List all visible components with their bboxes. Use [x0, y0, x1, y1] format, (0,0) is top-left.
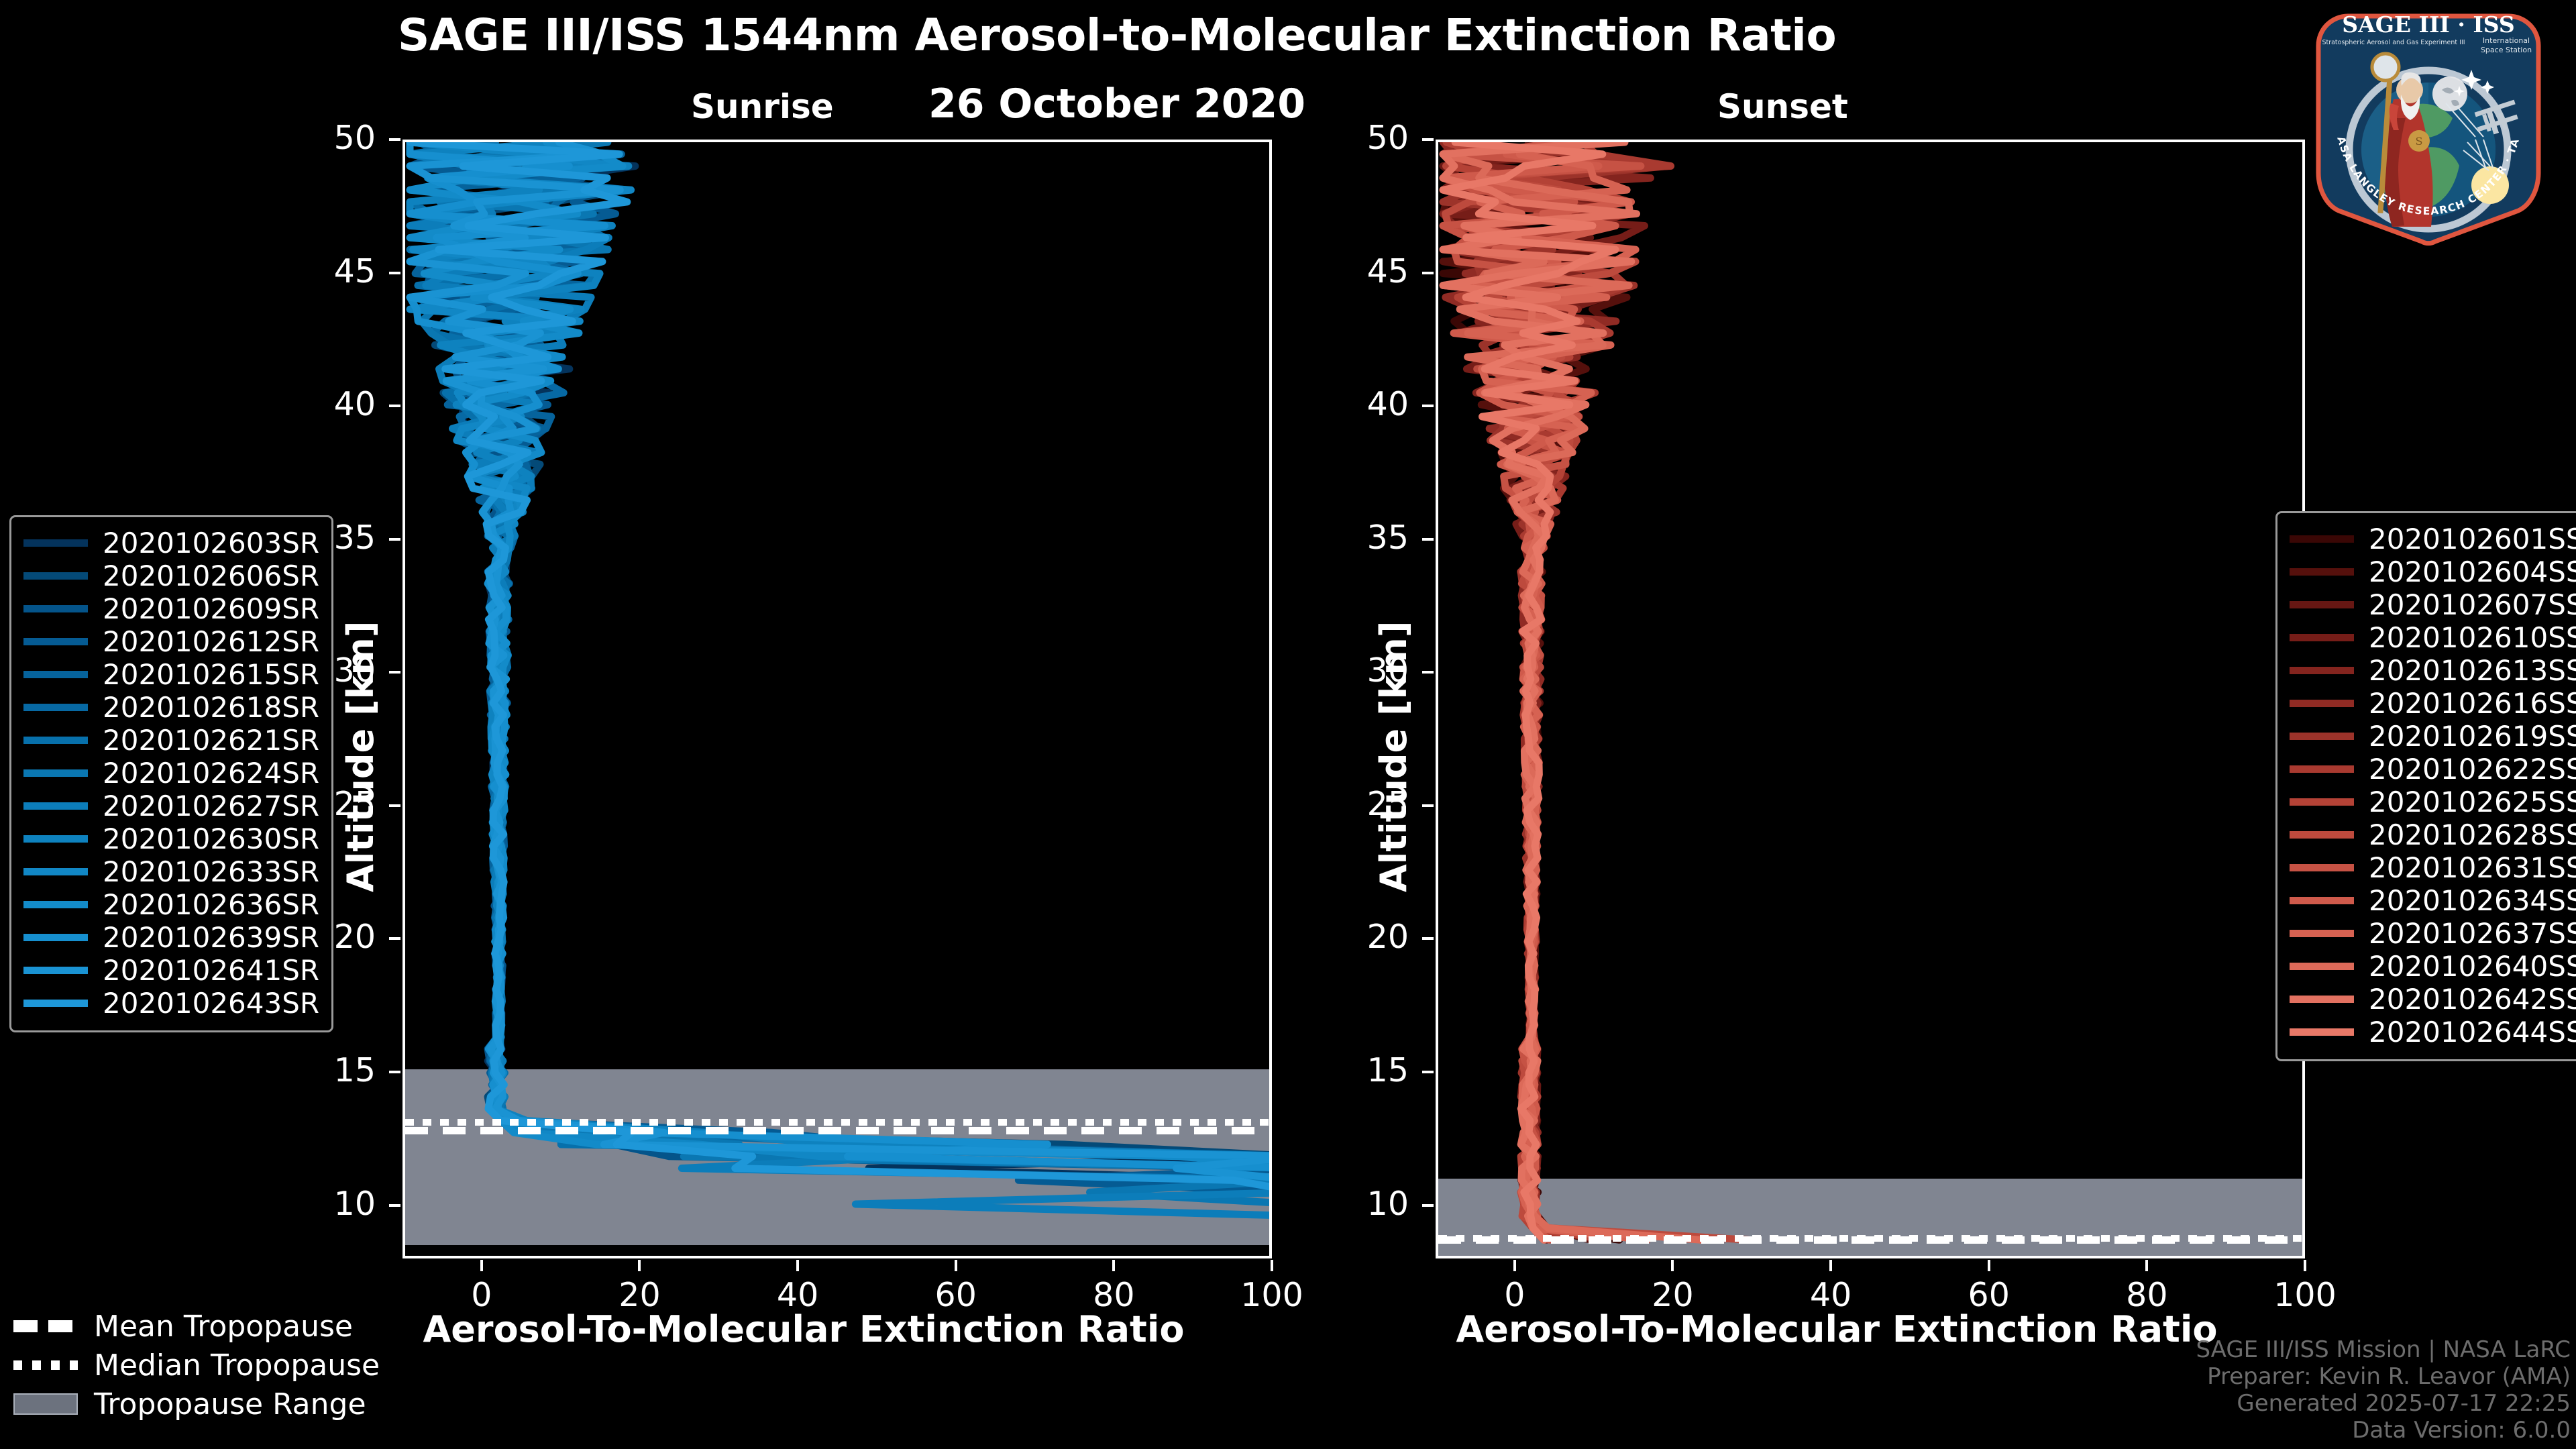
x-tick-mark — [955, 1260, 957, 1271]
y-tick-mark — [1422, 272, 1434, 274]
legend-item-label: 2020102630SR — [103, 822, 319, 855]
legend-color-swatch — [2290, 765, 2354, 773]
legend-item[interactable]: 2020102621SR — [23, 724, 319, 757]
page-title: SAGE III/ISS 1544nm Aerosol-to-Molecular… — [0, 9, 2234, 61]
legend-color-swatch — [23, 967, 88, 974]
tropopause-legend-item: Median Tropopause — [13, 1346, 380, 1385]
legend-item[interactable]: 2020102633SR — [23, 855, 319, 888]
y-tick-label: 10 — [1308, 1185, 1409, 1223]
y-tick-label: 40 — [1308, 385, 1409, 423]
legend-item[interactable]: 2020102619SS — [2290, 720, 2576, 753]
legend-color-swatch — [2290, 897, 2354, 904]
x-tick-mark — [2304, 1260, 2306, 1271]
legend-color-swatch — [23, 638, 88, 645]
sunset-y-axis-title: Altitude [km] — [1373, 621, 1415, 893]
legend-item-label: 2020102609SR — [103, 592, 319, 625]
x-tick-mark — [1988, 1260, 1990, 1271]
legend-item[interactable]: 2020102603SR — [23, 527, 319, 559]
legend-item[interactable]: 2020102636SR — [23, 888, 319, 921]
y-tick-mark — [1422, 405, 1434, 407]
x-tick-mark — [1671, 1260, 1674, 1271]
legend-item[interactable]: 2020102643SR — [23, 987, 319, 1020]
legend-item[interactable]: 2020102612SR — [23, 625, 319, 658]
y-tick-mark — [389, 405, 400, 407]
y-tick-mark — [1422, 804, 1434, 807]
tropopause-legend-swatch — [13, 1360, 78, 1370]
logo-main-text: SAGE III · ISS — [2342, 11, 2514, 38]
legend-color-swatch — [23, 769, 88, 777]
legend-color-swatch — [23, 1000, 88, 1007]
credit-generated: Generated 2025-07-17 22:25 — [2196, 1390, 2571, 1417]
legend-item[interactable]: 2020102637SS — [2290, 917, 2576, 950]
tropopause-legend-item: Mean Tropopause — [13, 1307, 380, 1346]
y-tick-mark — [1422, 1071, 1434, 1073]
legend-color-swatch — [2290, 798, 2354, 806]
legend-item[interactable]: 2020102630SR — [23, 822, 319, 855]
legend-item-label: 2020102615SR — [103, 658, 319, 691]
legend-color-swatch — [23, 934, 88, 941]
legend-item[interactable]: 2020102610SS — [2290, 621, 2576, 654]
panel-label-sunset: Sunset — [1717, 87, 1848, 126]
sunset-x-axis-title: Aerosol-To-Molecular Extinction Ratio — [1334, 1308, 2340, 1350]
y-tick-label: 10 — [275, 1185, 376, 1223]
sunrise-plot-canvas — [405, 142, 1269, 1256]
mean-tropopause-line — [405, 1127, 1269, 1134]
y-tick-mark — [389, 538, 400, 541]
median-tropopause-line — [405, 1119, 1269, 1126]
legend-item[interactable]: 2020102628SS — [2290, 818, 2576, 851]
legend-item-label: 2020102624SR — [103, 757, 319, 790]
legend-item[interactable]: 2020102601SS — [2290, 523, 2576, 555]
legend-color-swatch — [2290, 963, 2354, 970]
y-tick-label: 40 — [275, 385, 376, 423]
y-tick-mark — [1422, 1204, 1434, 1207]
legend-item[interactable]: 2020102644SS — [2290, 1016, 2576, 1049]
svg-text:S: S — [2416, 135, 2423, 148]
logo-subtitle-left: Stratospheric Aerosol and Gas Experiment… — [2322, 39, 2465, 46]
legend-item-label: 2020102634SS — [2369, 884, 2576, 917]
legend-item-label: 2020102628SS — [2369, 818, 2576, 851]
legend-item[interactable]: 2020102627SR — [23, 790, 319, 822]
profile-line — [410, 142, 1269, 1240]
legend-item[interactable]: 2020102604SS — [2290, 555, 2576, 588]
legend-color-swatch — [2290, 930, 2354, 937]
tropopause-legend-swatch — [13, 1320, 78, 1332]
credit-preparer: Preparer: Kevin R. Leavor (AMA) — [2196, 1363, 2571, 1390]
y-tick-label: 50 — [275, 119, 376, 157]
legend-color-swatch — [2290, 667, 2354, 674]
y-tick-label: 45 — [275, 252, 376, 290]
y-tick-label: 15 — [275, 1051, 376, 1089]
legend-item[interactable]: 2020102613SS — [2290, 654, 2576, 687]
logo-subtitle-right-1: International — [2483, 36, 2530, 45]
legend-color-swatch — [23, 671, 88, 678]
sunrise-event-legend[interactable]: 2020102603SR2020102606SR2020102609SR2020… — [9, 515, 333, 1032]
legend-color-swatch — [23, 572, 88, 580]
sunset-plot-canvas — [1438, 142, 2302, 1256]
legend-item[interactable]: 2020102622SS — [2290, 753, 2576, 786]
y-tick-mark — [389, 138, 400, 141]
sunrise-x-axis-title: Aerosol-To-Molecular Extinction Ratio — [301, 1308, 1307, 1350]
tropopause-legend-label: Tropopause Range — [94, 1387, 366, 1421]
legend-item[interactable]: 2020102624SR — [23, 757, 319, 790]
tropopause-legend-swatch — [13, 1393, 78, 1415]
y-tick-mark — [1422, 538, 1434, 541]
legend-item[interactable]: 2020102634SS — [2290, 884, 2576, 917]
logo-subtitle-right-2: Space Station — [2481, 46, 2532, 54]
sunrise-y-axis-title: Altitude [km] — [339, 621, 382, 893]
legend-item-label: 2020102627SR — [103, 790, 319, 822]
sunset-profile-lines — [1438, 142, 2302, 1256]
legend-item[interactable]: 2020102640SS — [2290, 950, 2576, 983]
legend-item-label: 2020102637SS — [2369, 917, 2576, 950]
y-tick-mark — [389, 272, 400, 274]
sunrise-profile-lines — [405, 142, 1269, 1256]
y-tick-mark — [389, 671, 400, 674]
legend-color-swatch — [2290, 996, 2354, 1003]
legend-item-label: 2020102613SS — [2369, 654, 2576, 687]
y-tick-label: 45 — [1308, 252, 1409, 290]
legend-color-swatch — [23, 737, 88, 744]
tropopause-legend-label: Median Tropopause — [94, 1348, 380, 1383]
legend-color-swatch — [23, 605, 88, 612]
x-tick-mark — [1513, 1260, 1516, 1271]
legend-color-swatch — [23, 868, 88, 875]
legend-item-label: 2020102636SR — [103, 888, 319, 921]
y-tick-mark — [1422, 671, 1434, 674]
legend-item-label: 2020102639SR — [103, 921, 319, 954]
legend-color-swatch — [2290, 601, 2354, 608]
legend-item[interactable]: 2020102609SR — [23, 592, 319, 625]
y-tick-label: 20 — [1308, 918, 1409, 956]
legend-color-swatch — [2290, 864, 2354, 871]
x-tick-mark — [1112, 1260, 1115, 1271]
credit-mission: SAGE III/ISS Mission | NASA LaRC — [2196, 1336, 2571, 1363]
sage-iii-iss-mission-patch-icon: S SAGE III · ISS Stratospheric Aerosol a… — [2308, 5, 2549, 247]
x-tick-mark — [1271, 1260, 1273, 1271]
legend-color-swatch — [2290, 568, 2354, 576]
y-tick-mark — [389, 1204, 400, 1207]
sunset-event-legend[interactable]: 2020102601SS2020102604SS2020102607SS2020… — [2275, 511, 2576, 1061]
legend-item[interactable]: 2020102625SS — [2290, 786, 2576, 818]
legend-item[interactable]: 2020102616SS — [2290, 687, 2576, 720]
legend-item[interactable]: 2020102631SS — [2290, 851, 2576, 884]
legend-color-swatch — [2290, 831, 2354, 839]
legend-item-label: 2020102601SS — [2369, 523, 2576, 555]
mean-tropopause-line — [1438, 1236, 2302, 1244]
legend-item-label: 2020102633SR — [103, 855, 319, 888]
x-tick-mark — [796, 1260, 799, 1271]
legend-item-label: 2020102606SR — [103, 559, 319, 592]
tropopause-legend-item: Tropopause Range — [13, 1385, 380, 1424]
legend-item-label: 2020102616SS — [2369, 687, 2576, 720]
x-tick-mark — [480, 1260, 483, 1271]
legend-color-swatch — [23, 901, 88, 908]
legend-color-swatch — [23, 802, 88, 810]
sunset-plot-area — [1436, 140, 2305, 1258]
x-tick-mark — [638, 1260, 641, 1271]
legend-item[interactable]: 2020102639SR — [23, 921, 319, 954]
legend-item-label: 2020102631SS — [2369, 851, 2576, 884]
legend-item-label: 2020102642SS — [2369, 983, 2576, 1016]
x-tick-mark — [1829, 1260, 1832, 1271]
y-tick-label: 15 — [1308, 1051, 1409, 1089]
legend-item-label: 2020102640SS — [2369, 950, 2576, 983]
legend-color-swatch — [23, 704, 88, 711]
legend-item-label: 2020102603SR — [103, 527, 319, 559]
legend-item-label: 2020102641SR — [103, 954, 319, 987]
legend-item-label: 2020102607SS — [2369, 588, 2576, 621]
tropopause-legend-label: Mean Tropopause — [94, 1309, 353, 1344]
legend-color-swatch — [2290, 700, 2354, 707]
y-tick-label: 35 — [1308, 519, 1409, 557]
y-tick-mark — [1422, 138, 1434, 141]
legend-color-swatch — [2290, 733, 2354, 740]
y-tick-mark — [389, 937, 400, 940]
tropopause-legend: Mean TropopauseMedian TropopauseTropopau… — [13, 1307, 380, 1424]
legend-item-label: 2020102622SS — [2369, 753, 2576, 786]
panel-label-sunrise: Sunrise — [691, 87, 834, 126]
legend-item[interactable]: 2020102642SS — [2290, 983, 2576, 1016]
legend-item-label: 2020102610SS — [2369, 621, 2576, 654]
legend-item-label: 2020102644SS — [2369, 1016, 2576, 1049]
y-tick-mark — [389, 1071, 400, 1073]
legend-item[interactable]: 2020102607SS — [2290, 588, 2576, 621]
legend-color-swatch — [2290, 1028, 2354, 1036]
legend-item-label: 2020102643SR — [103, 987, 319, 1020]
legend-item-label: 2020102619SS — [2369, 720, 2576, 753]
legend-item-label: 2020102604SS — [2369, 555, 2576, 588]
legend-color-swatch — [2290, 634, 2354, 641]
y-tick-mark — [389, 804, 400, 807]
legend-item-label: 2020102621SR — [103, 724, 319, 757]
legend-color-swatch — [23, 835, 88, 843]
legend-item-label: 2020102612SR — [103, 625, 319, 658]
legend-item[interactable]: 2020102615SR — [23, 658, 319, 691]
sunrise-plot-area — [402, 140, 1272, 1258]
legend-item[interactable]: 2020102606SR — [23, 559, 319, 592]
legend-color-swatch — [23, 539, 88, 547]
credit-data-version: Data Version: 6.0.0 — [2196, 1417, 2571, 1444]
legend-item[interactable]: 2020102618SR — [23, 691, 319, 724]
credits-block: SAGE III/ISS Mission | NASA LaRC Prepare… — [2196, 1336, 2571, 1444]
y-tick-label: 50 — [1308, 119, 1409, 157]
y-tick-mark — [1422, 937, 1434, 940]
legend-item-label: 2020102618SR — [103, 691, 319, 724]
legend-color-swatch — [2290, 535, 2354, 543]
legend-item[interactable]: 2020102641SR — [23, 954, 319, 987]
legend-item-label: 2020102625SS — [2369, 786, 2576, 818]
x-tick-mark — [2145, 1260, 2148, 1271]
